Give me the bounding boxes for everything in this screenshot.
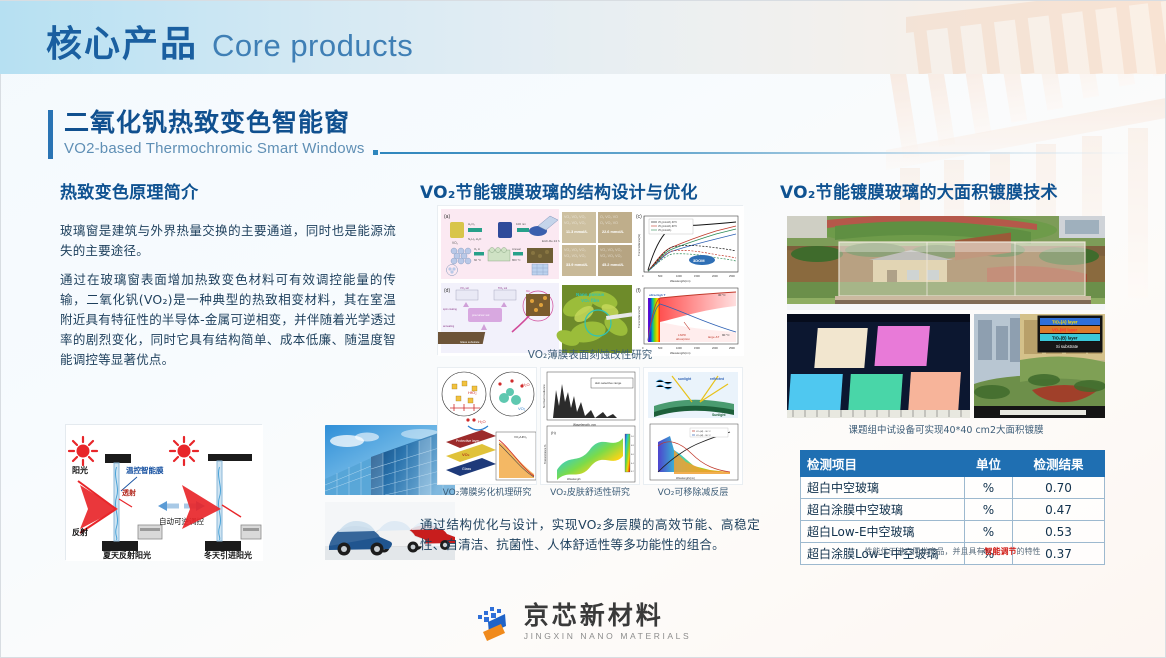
- header-columns-watermark: [906, 1, 1166, 74]
- section-title-en: VO2-based Thermochromic Smart Windows: [64, 138, 365, 160]
- svg-text:O₂ VO₂ VO: O₂ VO₂ VO: [600, 215, 618, 219]
- svg-text:VO₂: VO₂: [462, 452, 470, 457]
- svg-text:33.9 mmol/L: 33.9 mmol/L: [566, 263, 589, 267]
- smart-window-diagram: 阳光 温控智能膜 透射 反射 夏天反射阳光 自动可逆调控: [65, 424, 262, 560]
- svg-text:VO₂ VO₂ VO₂: VO₂ VO₂ VO₂: [600, 248, 622, 252]
- right-photo-group: TiO₂(A) layer VO₂(M) layer TiO₂(B) layer…: [787, 216, 1105, 418]
- figure-antireflection: sunlight reflected Sunlight: [643, 367, 743, 485]
- svg-text:夏天反射阳光: 夏天反射阳光: [102, 550, 151, 560]
- svg-text:ultra-high T: ultra-high T: [649, 293, 666, 297]
- table-row: 超白中空玻璃 % 0.70: [801, 477, 1105, 499]
- right-column-heading: VO₂节能镀膜玻璃的大面积镀膜技术: [780, 178, 1116, 203]
- page-title-en: Core products: [212, 28, 413, 64]
- svg-text:反射: 反射: [72, 527, 88, 537]
- svg-text:(f): (f): [636, 288, 641, 294]
- svg-text:large ΔT: large ΔT: [708, 335, 720, 339]
- svg-text:annealing: annealing: [443, 324, 455, 328]
- logo-name-en: JINGXIN NANO MATERIALS: [524, 632, 692, 641]
- svg-text:VO₂(M) - 30 °C: VO₂(M) - 30 °C: [696, 431, 711, 433]
- section-title-bar: [48, 110, 53, 159]
- figure-caption-etching: VO₂薄膜表面刻蚀改性研究: [437, 347, 743, 362]
- cell-result: 0.70: [1013, 477, 1105, 499]
- column-middle: VO₂节能镀膜玻璃的结构设计与优化: [420, 178, 760, 203]
- slide-border-left: [0, 0, 1, 658]
- th-result: 检测结果: [1013, 451, 1105, 477]
- section-title-cn: 二氧化钒热致变色智能窗: [64, 108, 365, 138]
- svg-text:1500: 1500: [694, 274, 700, 278]
- photo-large-coated-glass: [787, 216, 1105, 310]
- left-column-body: 玻璃窗是建筑与外界热量交换的主要通道，同时也是能源流失的主要途径。 通过在玻璃窗…: [60, 221, 396, 370]
- svg-text:VO₂ VO₂ VO₂: VO₂ VO₂ VO₂: [600, 254, 622, 258]
- logo-mark-icon: [475, 602, 515, 642]
- svg-text:VO₂: VO₂: [452, 241, 459, 245]
- right-photo-caption: 课题组中试设备可实现40*40 cm2大面积镀膜: [787, 422, 1105, 436]
- table-footnote: 性能优于进口同类产品，并且具有智能调节的特性: [800, 546, 1105, 557]
- svg-text:2500: 2500: [729, 274, 735, 278]
- svg-text:O₂ in: O₂ in: [474, 247, 481, 251]
- svg-text:TiO₂ sol: TiO₂ sol: [498, 286, 508, 290]
- svg-text:O₂ VO₂ VO: O₂ VO₂ VO: [600, 221, 618, 225]
- svg-text:VO₂(M) layer: VO₂(M) layer: [1052, 328, 1078, 333]
- svg-text:VO₂ VO₂ VO₂: VO₂ VO₂ VO₂: [564, 248, 586, 252]
- cell-unit: %: [965, 521, 1013, 543]
- figure-caption-skin-comfort: VO₂皮肤舒适性研究: [540, 487, 640, 499]
- svg-text:VO₂(M) - 90 °C: VO₂(M) - 90 °C: [696, 435, 711, 437]
- footnote-prefix: 性能优于进口同类产品，并且具有: [865, 547, 985, 556]
- cell-unit: %: [965, 477, 1013, 499]
- svg-text:VO₂(mmol/L) 30°C: VO₂(mmol/L) 30°C: [658, 222, 677, 224]
- svg-text:Protective layer: Protective layer: [456, 439, 480, 443]
- logo-wordmark: 京芯新材料 JINGXIN NANO MATERIALS: [524, 603, 692, 641]
- svg-text:阳光: 阳光: [72, 465, 88, 475]
- table-header-row: 检测项目 单位 检测结果: [801, 451, 1105, 477]
- svg-text:spin coating: spin coating: [443, 307, 457, 311]
- photo-colored-samples: [787, 314, 970, 418]
- svg-text:100 nm: 100 nm: [516, 222, 527, 226]
- svg-text:Wavelength: Wavelength: [567, 477, 581, 481]
- footnote-highlight: 智能调节: [985, 547, 1017, 556]
- svg-text:3DOM: 3DOM: [693, 258, 705, 263]
- photo-film-stack: TiO₂(A) layer VO₂(M) layer TiO₂(B) layer…: [974, 314, 1105, 418]
- svg-text:VO₂ VO₂ VO₂: VO₂ VO₂ VO₂: [564, 215, 586, 219]
- svg-text:Anneal: Anneal: [512, 247, 521, 251]
- svg-text:11.3 mmol/L: 11.3 mmol/L: [566, 230, 588, 234]
- cell-result: 0.53: [1013, 521, 1105, 543]
- slide-canvas: 核心产品 Core products 二氧化钒热致变色智能窗 VO2-based…: [0, 0, 1166, 658]
- left-column-heading: 热致变色原理简介: [60, 178, 396, 203]
- footer-logo: 京芯新材料 JINGXIN NANO MATERIALS: [0, 602, 1166, 642]
- svg-text:30 °C: 30 °C: [718, 293, 726, 297]
- svg-text:1000: 1000: [676, 274, 682, 278]
- svg-text:透射: 透射: [122, 488, 136, 497]
- svg-text:absorption: absorption: [676, 337, 690, 341]
- svg-text:(h): (h): [551, 430, 557, 435]
- figure-vo2-etching: (a) VO₂ H₂O₂ N₂H₄·H₂O 100 nm Etch-Re 24 …: [437, 205, 743, 355]
- page-title: 核心产品 Core products: [46, 15, 413, 67]
- figure-row-middle: HfO₂ H₂O VO₂ H₂O Protective layer VO₂ Gl…: [437, 367, 743, 502]
- svg-text:(a): (a): [444, 214, 450, 220]
- left-paragraph-1: 玻璃窗是建筑与外界热量交换的主要通道，同时也是能源流失的主要途径。: [60, 221, 396, 261]
- svg-text:500: 500: [658, 274, 663, 278]
- sun-icon-winter: [170, 437, 198, 465]
- svg-text:(c): (c): [636, 214, 642, 220]
- middle-column-summary: 通过结构优化与设计，实现VO₂多层膜的高效节能、高稳定性、自清洁、抗菌性、人体舒…: [420, 515, 760, 555]
- svg-text:Wavelength(nm): Wavelength(nm): [670, 279, 690, 283]
- svg-text:VO₂ VO₂ VO₂: VO₂ VO₂ VO₂: [564, 254, 586, 258]
- svg-text:VO₂(mmol/L): VO₂(mmol/L): [658, 230, 672, 232]
- footnote-suffix: 的特性: [1017, 547, 1041, 556]
- middle-summary-text: 通过结构优化与设计，实现VO₂多层膜的高效节能、高稳定性、自清洁、抗菌性、人体舒…: [420, 515, 760, 555]
- svg-text:TiO₂(B) layer: TiO₂(B) layer: [1052, 336, 1078, 341]
- svg-text:温控智能膜: 温控智能膜: [126, 465, 164, 475]
- cell-unit: %: [965, 499, 1013, 521]
- cell-result: 0.47: [1013, 499, 1105, 521]
- svg-text:90 °C: 90 °C: [722, 333, 730, 337]
- svg-text:reflected: reflected: [710, 377, 724, 381]
- figure-caption-degradation: VO₂薄膜劣化机理研究: [437, 487, 537, 499]
- svg-text:Si substrate: Si substrate: [1056, 344, 1079, 349]
- svg-text:Etch-Re 24 h: Etch-Re 24 h: [542, 239, 560, 243]
- page-title-cn: 核心产品: [46, 15, 198, 67]
- th-item: 检测项目: [801, 451, 965, 477]
- cell-item: 超白Low-E中空玻璃: [801, 521, 965, 543]
- svg-text:Wavelength(nm): Wavelength(nm): [676, 476, 695, 480]
- svg-text:HfO₂: HfO₂: [468, 390, 477, 395]
- th-unit: 单位: [965, 451, 1013, 477]
- svg-text:VO₂ film: VO₂ film: [581, 298, 599, 303]
- svg-text:TiO₂(A) layer: TiO₂(A) layer: [1052, 320, 1078, 325]
- figure-degradation: HfO₂ H₂O VO₂ H₂O Protective layer VO₂ Gl…: [437, 367, 537, 485]
- figure-skin-comfort: skin selective range Wavelength, nm Norm…: [540, 367, 640, 485]
- svg-text:H₂O: H₂O: [478, 419, 486, 424]
- svg-text:film: film: [526, 289, 530, 293]
- middle-column-heading: VO₂节能镀膜玻璃的结构设计与优化: [420, 178, 760, 203]
- section-title: 二氧化钒热致变色智能窗 VO2-based Thermochromic Smar…: [48, 108, 365, 160]
- left-paragraph-2: 通过在玻璃窗表面增加热致变色材料可有效调控能量的传输，二氧化钒(VO₂)是一种典…: [60, 270, 396, 370]
- svg-text:45.2 mmol/L: 45.2 mmol/L: [602, 263, 625, 267]
- svg-text:Transmittance %: Transmittance %: [543, 444, 547, 464]
- svg-text:H₂O₂: H₂O₂: [468, 222, 476, 226]
- svg-text:VO₂ sol: VO₂ sol: [460, 286, 469, 290]
- svg-text:22.6 mmol/L: 22.6 mmol/L: [602, 230, 625, 234]
- svg-text:H₂O: H₂O: [522, 382, 530, 387]
- column-left: 热致变色原理简介 玻璃窗是建筑与外界热量交换的主要通道，同时也是能源流失的主要途…: [60, 178, 396, 370]
- svg-text:2000: 2000: [712, 274, 718, 278]
- svg-text:N₂H₄·H₂O: N₂H₄·H₂O: [468, 237, 482, 241]
- column-right: VO₂节能镀膜玻璃的大面积镀膜技术: [780, 178, 1116, 203]
- svg-text:Nano porous: Nano porous: [576, 292, 605, 297]
- svg-text:Normal irradiance: Normal irradiance: [542, 384, 546, 408]
- cell-item: 超白中空玻璃: [801, 477, 965, 499]
- table-row: 超白Low-E中空玻璃 % 0.53: [801, 521, 1105, 543]
- cell-item: 超白涂膜中空玻璃: [801, 499, 965, 521]
- svg-text:冬天引进阳光: 冬天引进阳光: [204, 550, 252, 560]
- svg-text:skin selective range: skin selective range: [595, 381, 622, 385]
- svg-text:Sunlight: Sunlight: [712, 413, 726, 417]
- table-row: 超白涂膜中空玻璃 % 0.47: [801, 499, 1105, 521]
- section-rule: [380, 152, 1132, 154]
- svg-text:VO₂/HfO₂: VO₂/HfO₂: [514, 435, 528, 439]
- svg-text:Glass substrate: Glass substrate: [460, 340, 480, 344]
- svg-text:sunlight: sunlight: [678, 377, 692, 381]
- svg-text:VO₂(mmol/L) 90°C: VO₂(mmol/L) 90°C: [658, 226, 677, 228]
- svg-text:Transmittance(%): Transmittance(%): [637, 234, 641, 256]
- svg-text:VO₂ VO₂ VO₂: VO₂ VO₂ VO₂: [564, 221, 586, 225]
- header-band: 核心产品 Core products: [0, 1, 1166, 74]
- svg-text:800 °C: 800 °C: [512, 258, 521, 262]
- section-rule-dot: [373, 150, 378, 155]
- sun-icon-summer: [69, 437, 97, 465]
- logo-name-cn: 京芯新材料: [524, 603, 692, 628]
- svg-text:(d): (d): [444, 288, 450, 294]
- svg-text:Glass: Glass: [462, 467, 471, 471]
- svg-text:precursor sol: precursor sol: [472, 313, 490, 317]
- figure-caption-antireflection: VO₂可移除减反层: [643, 487, 743, 499]
- left-figure-group: 阳光 温控智能膜 透射 反射 夏天反射阳光 自动可逆调控: [60, 422, 400, 562]
- photo-glass-building: [325, 425, 455, 495]
- svg-text:VO₂: VO₂: [518, 406, 526, 411]
- svg-text:60 °C: 60 °C: [474, 258, 481, 262]
- svg-text:Transmittance(%): Transmittance(%): [637, 306, 641, 328]
